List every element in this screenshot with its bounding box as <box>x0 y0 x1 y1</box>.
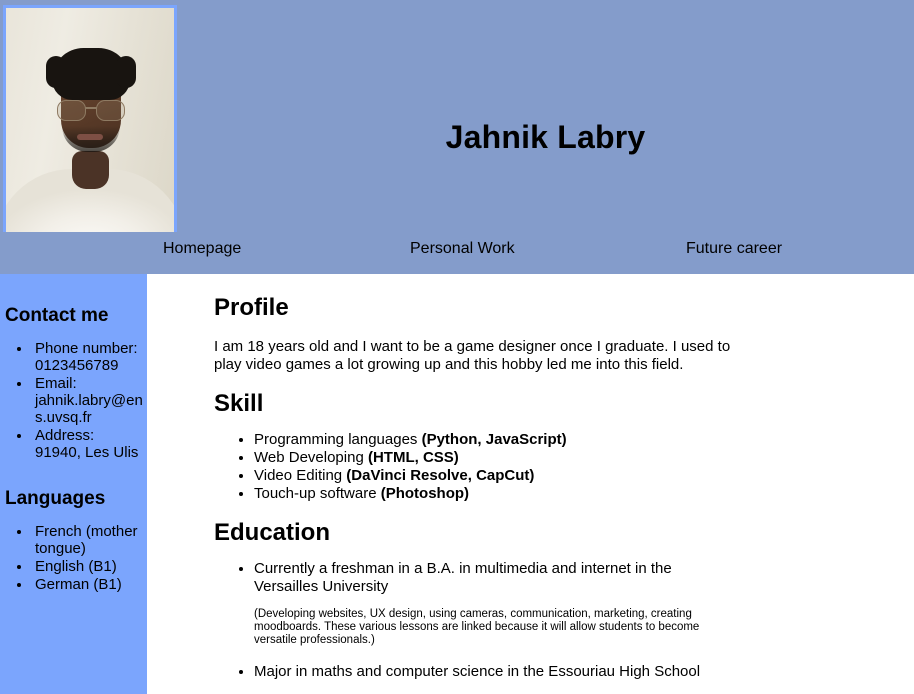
list-item: French (mother tongue) <box>32 523 143 557</box>
list-item: Touch-up software (Photoshop) <box>254 485 894 502</box>
education-entry-note: (Developing websites, UX design, using c… <box>254 608 724 647</box>
skill-detail: (DaVinci Resolve, CapCut) <box>346 467 534 484</box>
glasses-lens-right <box>96 100 125 121</box>
skill-detail: (Photoshop) <box>381 485 469 502</box>
list-item: Phone number: 0123456789 <box>32 340 143 374</box>
list-item: Currently a freshman in a B.A. in multim… <box>254 560 724 647</box>
nav-item-future-career[interactable]: Future career <box>686 240 782 258</box>
education-list: Currently a freshman in a B.A. in multim… <box>214 560 894 681</box>
list-item: Programming languages (Python, JavaScrip… <box>254 431 894 448</box>
skill-label: Touch-up software <box>254 485 381 502</box>
list-item: Major in maths and computer science in t… <box>254 663 724 681</box>
section-heading-education: Education <box>214 503 894 546</box>
list-item: Email: jahnik.labry@ens.uvsq.fr <box>32 375 143 426</box>
languages-list: French (mother tongue) English (B1) Germ… <box>0 523 147 593</box>
skill-label: Programming languages <box>254 431 422 448</box>
skill-label: Web Developing <box>254 449 368 466</box>
page-root: Jahnik Labry Homepage Personal Work Futu… <box>0 0 914 694</box>
skill-detail: (Python, JavaScript) <box>422 431 567 448</box>
skill-detail: (HTML, CSS) <box>368 449 459 466</box>
list-item: Web Developing (HTML, CSS) <box>254 449 894 466</box>
photo-hair <box>52 48 130 100</box>
sidebar: Contact me Phone number: 0123456789 Emai… <box>0 274 147 694</box>
main-navigation: Homepage Personal Work Future career <box>0 232 914 274</box>
section-heading-skill: Skill <box>214 374 894 417</box>
contact-list: Phone number: 0123456789 Email: jahnik.l… <box>0 340 147 461</box>
skill-label: Video Editing <box>254 467 346 484</box>
sidebar-heading-contact: Contact me <box>0 274 147 327</box>
education-entry-text: Currently a freshman in a B.A. in multim… <box>254 560 672 595</box>
page-title: Jahnik Labry <box>177 21 914 253</box>
nav-item-homepage[interactable]: Homepage <box>163 240 241 258</box>
photo-neck <box>72 151 109 189</box>
photo-mouth <box>77 134 103 140</box>
profile-photo <box>3 5 177 236</box>
section-heading-profile: Profile <box>214 274 894 321</box>
photo-background <box>6 8 174 233</box>
list-item: German (B1) <box>32 576 143 593</box>
list-item: Address: 91940, Les Ulis <box>32 427 143 461</box>
profile-text: I am 18 years old and I want to be a gam… <box>214 338 739 374</box>
list-item: English (B1) <box>32 558 143 575</box>
list-item: Video Editing (DaVinci Resolve, CapCut) <box>254 467 894 484</box>
nav-item-personal-work[interactable]: Personal Work <box>410 240 515 258</box>
site-header: Jahnik Labry <box>0 0 914 232</box>
glasses-lens-left <box>57 100 86 121</box>
photo-glasses <box>56 100 126 120</box>
sidebar-heading-languages: Languages <box>0 462 147 510</box>
main-content: Profile I am 18 years old and I want to … <box>147 274 914 694</box>
skill-list: Programming languages (Python, JavaScrip… <box>214 431 894 502</box>
